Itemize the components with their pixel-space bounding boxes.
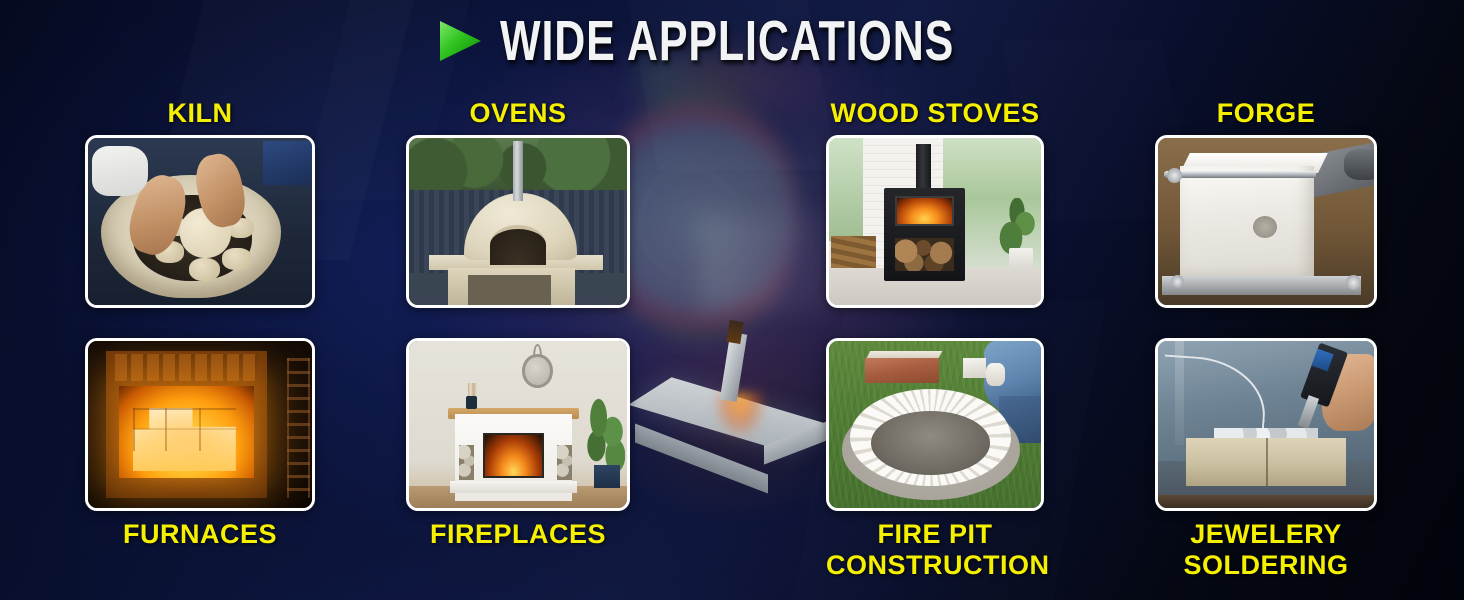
application-label-jewelery-soldering: JEWELERY SOLDERING (1155, 519, 1377, 581)
application-label-furnaces: FURNACES (85, 519, 315, 550)
application-label-kiln: KILN (85, 98, 315, 129)
application-card-fireplaces[interactable]: FIREPLACES (406, 338, 630, 550)
application-card-fire-pit-construction[interactable]: FIRE PIT CONSTRUCTION (826, 338, 1044, 581)
application-image-forge (1155, 135, 1377, 308)
application-image-kiln (85, 135, 315, 308)
application-card-jewelery-soldering[interactable]: JEWELERY SOLDERING (1155, 338, 1377, 581)
application-card-forge[interactable]: FORGE (1155, 98, 1377, 308)
application-image-fireplaces (406, 338, 630, 511)
application-label-forge: FORGE (1155, 98, 1377, 129)
application-card-wood-stoves[interactable]: WOOD STOVES (826, 98, 1044, 308)
applications-grid: KILN OVENS (0, 0, 1464, 600)
application-image-ovens (406, 135, 630, 308)
application-image-fire-pit-construction (826, 338, 1044, 511)
application-image-wood-stoves (826, 135, 1044, 308)
application-label-fire-pit-construction: FIRE PIT CONSTRUCTION (826, 519, 1044, 581)
application-card-furnaces[interactable]: FURNACES (85, 338, 315, 550)
application-image-furnaces (85, 338, 315, 511)
application-label-ovens: OVENS (406, 98, 630, 129)
application-label-wood-stoves: WOOD STOVES (826, 98, 1044, 129)
application-card-ovens[interactable]: OVENS (406, 98, 630, 308)
wide-applications-banner: WIDE APPLICATIONS KILN (0, 0, 1464, 600)
application-label-fireplaces: FIREPLACES (406, 519, 630, 550)
application-image-jewelery-soldering (1155, 338, 1377, 511)
application-card-kiln[interactable]: KILN (85, 98, 315, 308)
